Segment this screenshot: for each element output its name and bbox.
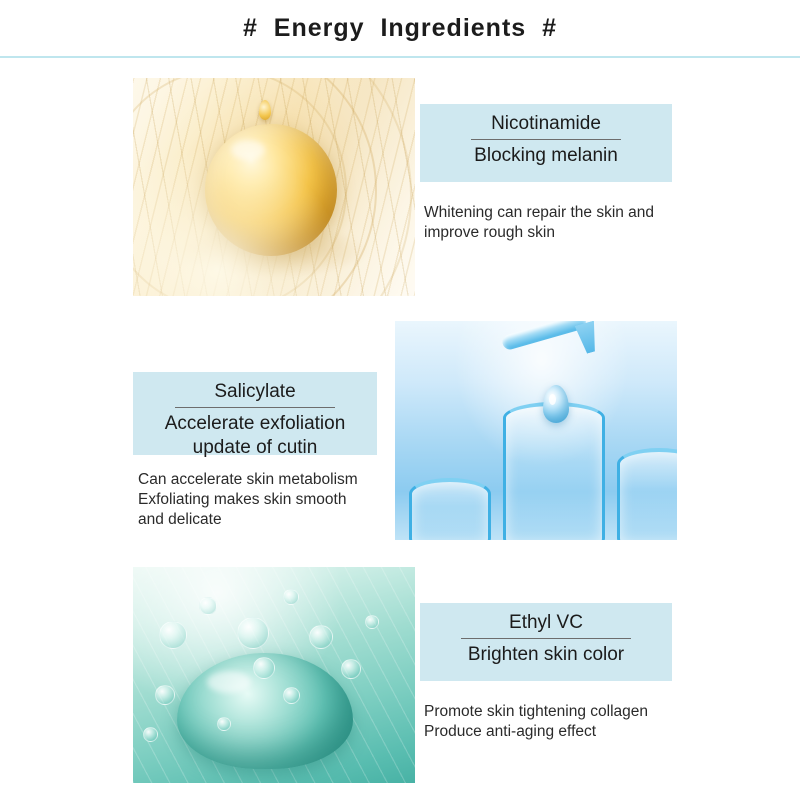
callout-subtitle: Accelerate exfoliation update of cutin	[145, 412, 365, 460]
callout-title: Nicotinamide	[432, 111, 660, 139]
golden-serum-drop-photo	[133, 78, 415, 296]
bubble	[159, 621, 187, 649]
bubble	[365, 615, 379, 629]
test-tube-right	[617, 448, 677, 540]
bubble	[283, 687, 300, 704]
callout-subtitle: Brighten skin color	[432, 643, 660, 667]
golden-light-flare	[133, 78, 415, 296]
body-text-ethyl-vc: Promote skin tightening collagen Produce…	[424, 702, 676, 742]
bubble	[253, 657, 275, 679]
callout-subtitle: Blocking melanin	[432, 144, 660, 168]
bubble	[199, 597, 217, 615]
bubble	[143, 727, 158, 742]
page-title: # Energy Ingredients #	[0, 14, 800, 43]
callout-divider	[461, 638, 631, 639]
test-tube-left	[409, 478, 491, 540]
bubble	[283, 589, 299, 605]
callout-nicotinamide: Nicotinamide Blocking melanin	[420, 104, 672, 182]
callout-divider	[175, 407, 335, 408]
blue-test-tubes-pipette-photo	[395, 321, 677, 540]
bubble	[155, 685, 175, 705]
body-text-salicylate: Can accelerate skin metabolism Exfoliati…	[138, 470, 390, 530]
callout-divider	[471, 139, 621, 140]
callout-salicylate: Salicylate Accelerate exfoliation update…	[133, 372, 377, 455]
bubble	[217, 717, 231, 731]
green-water-splash-photo	[133, 567, 415, 783]
callout-title: Salicylate	[145, 379, 365, 407]
callout-ethyl-vc: Ethyl VC Brighten skin color	[420, 603, 672, 681]
body-text-nicotinamide: Whitening can repair the skin and improv…	[424, 203, 676, 243]
callout-title: Ethyl VC	[432, 610, 660, 638]
bubble	[237, 617, 269, 649]
page-header: # Energy Ingredients #	[0, 0, 800, 58]
bubble	[309, 625, 333, 649]
bubble	[341, 659, 361, 679]
